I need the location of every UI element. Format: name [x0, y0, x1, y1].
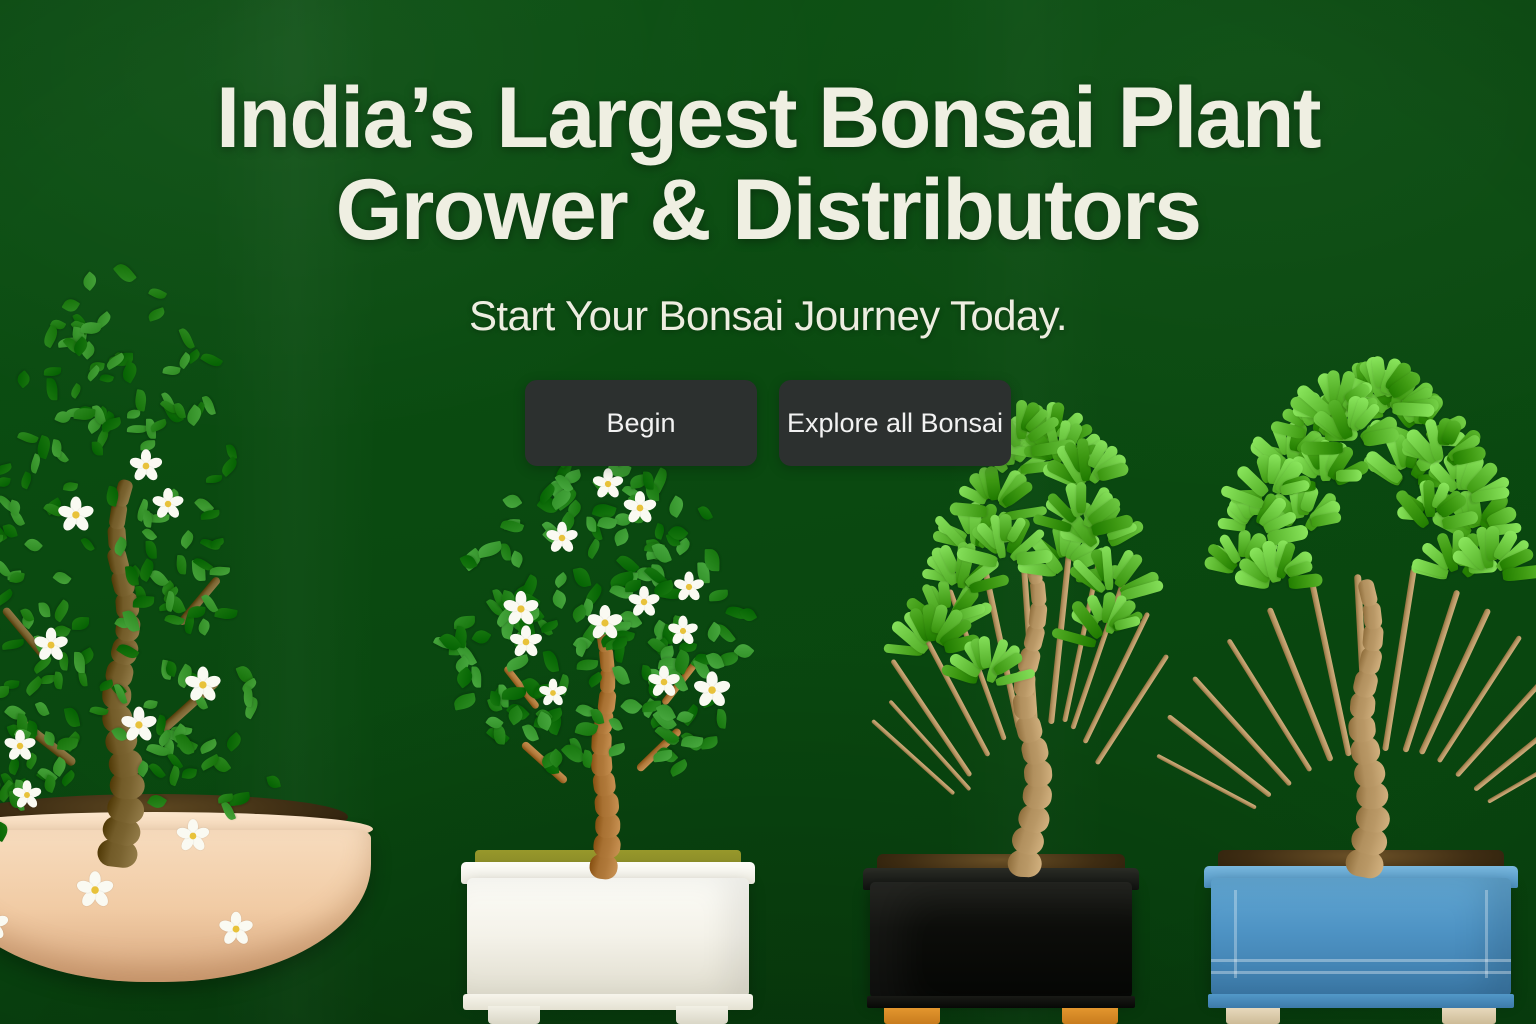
leaf: [1336, 469, 1362, 482]
bonsai-flower: [180, 823, 208, 851]
flower-center: [17, 743, 23, 749]
flower-center: [24, 792, 30, 798]
bonsai-flower: [589, 607, 620, 638]
hero-background: India’s Largest Bonsai Plant Grower & Di…: [0, 0, 1536, 1024]
bonsai-plant-3: [856, 384, 1146, 1024]
begin-button[interactable]: Begin: [525, 380, 757, 466]
bonsai-flower: [549, 525, 575, 551]
leaf: [500, 543, 510, 561]
bonsai-flower: [123, 709, 156, 742]
flower-center: [47, 641, 54, 648]
page-title: India’s Largest Bonsai Plant Grower & Di…: [0, 72, 1536, 256]
flower-center: [559, 535, 565, 541]
flower-center: [165, 501, 171, 507]
explore-all-bonsai-button[interactable]: Explore all Bonsai: [779, 380, 1011, 466]
hero-content: India’s Largest Bonsai Plant Grower & Di…: [0, 72, 1536, 466]
bonsai-flower: [595, 471, 619, 495]
flower-center: [661, 679, 668, 686]
leaf: [41, 675, 55, 684]
flower-center: [604, 480, 610, 486]
bonsai-flower: [631, 589, 656, 614]
bonsai-flower: [221, 914, 250, 943]
bonsai-2-foliage: [452, 424, 764, 1024]
bonsai-flower: [60, 499, 93, 532]
bonsai-flower: [77, 872, 112, 907]
bonsai-flower: [651, 669, 677, 695]
bonsai-plant-2: [452, 424, 764, 1024]
bonsai-flower: [678, 576, 701, 599]
bonsai-flower: [672, 620, 695, 643]
bonsai-flower: [695, 673, 729, 707]
flower-center: [232, 925, 239, 932]
page-subtitle: Start Your Bonsai Journey Today.: [0, 292, 1536, 340]
bonsai-flower: [513, 629, 540, 656]
bonsai-3-foliage: [856, 384, 1146, 1024]
bonsai-flower: [542, 682, 562, 702]
bonsai-flower: [155, 491, 180, 516]
bonsai-flower: [7, 733, 32, 758]
flower-center: [550, 690, 556, 696]
flower-center: [91, 886, 99, 894]
bonsai-flower: [505, 593, 537, 625]
bonsai-flower: [36, 630, 65, 659]
bonsai-flower: [16, 784, 37, 805]
flower-center: [708, 686, 715, 693]
leaf: [1076, 482, 1086, 513]
bonsai-flower: [626, 494, 654, 522]
leaf: [705, 550, 720, 572]
cta-button-row: Begin Explore all Bonsai: [0, 380, 1536, 466]
flower-center: [641, 599, 647, 605]
page-title-line-1: India’s Largest Bonsai Plant: [0, 72, 1536, 164]
trunk-segment: [1357, 578, 1379, 608]
page-title-line-2: Grower & Distributors: [0, 164, 1536, 256]
bonsai-flower: [0, 911, 6, 939]
bonsai-flower: [187, 669, 220, 702]
